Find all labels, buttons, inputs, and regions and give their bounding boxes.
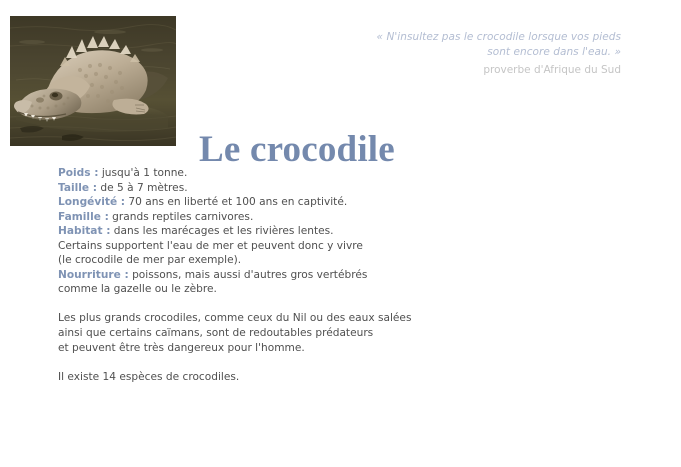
fact-label-poids: Poids : xyxy=(58,167,99,179)
document-page: « N'insultez pas le crocodile lorsque vo… xyxy=(0,0,681,467)
fact-value-nourriture: poissons, mais aussi d'autres gros verté… xyxy=(129,269,368,281)
paragraph2-line-3: et peuvent être très dangereux pour l'ho… xyxy=(58,341,478,356)
habitat-extra-line-2: (le crocodile de mer par exemple). xyxy=(58,253,478,268)
paragraph-spacer-2 xyxy=(58,355,478,370)
fact-label-nourriture: Nourriture : xyxy=(58,269,129,281)
page-title: Le crocodile xyxy=(199,129,395,171)
quote-attribution: proverbe d'Afrique du Sud xyxy=(321,62,621,79)
fact-value-habitat: dans les marécages et les rivières lente… xyxy=(110,225,333,237)
fact-label-habitat: Habitat : xyxy=(58,225,110,237)
nourriture-line-2: comme la gazelle ou le zèbre. xyxy=(58,282,478,297)
crocodile-photo-illustration xyxy=(10,16,176,146)
fact-row-habitat: Habitat : dans les marécages et les rivi… xyxy=(58,224,478,239)
fact-value-poids: jusqu'à 1 tonne. xyxy=(99,167,188,179)
paragraph2-line-1: Les plus grands crocodiles, comme ceux d… xyxy=(58,311,478,326)
fact-row-longevite: Longévité : 70 ans en liberté et 100 ans… xyxy=(58,195,478,210)
proverb-quote-block: « N'insultez pas le crocodile lorsque vo… xyxy=(321,30,621,79)
fact-row-nourriture: Nourriture : poissons, mais aussi d'autr… xyxy=(58,268,478,283)
crocodile-photo xyxy=(10,16,176,146)
habitat-extra-line-1: Certains supportent l'eau de mer et peuv… xyxy=(58,239,478,254)
paragraph3-line-1: Il existe 14 espèces de crocodiles. xyxy=(58,370,478,385)
fact-value-longevite: 70 ans en liberté et 100 ans en captivit… xyxy=(125,196,347,208)
fact-row-taille: Taille : de 5 à 7 mètres. xyxy=(58,181,478,196)
fact-row-poids: Poids : jusqu'à 1 tonne. xyxy=(58,166,478,181)
fact-label-famille: Famille : xyxy=(58,211,109,223)
article-body: Poids : jusqu'à 1 tonne. Taille : de 5 à… xyxy=(58,166,478,384)
fact-value-famille: grands reptiles carnivores. xyxy=(109,211,254,223)
paragraph-spacer-1 xyxy=(58,297,478,312)
paragraph2-line-2: ainsi que certains caïmans, sont de redo… xyxy=(58,326,478,341)
fact-value-taille: de 5 à 7 mètres. xyxy=(97,182,188,194)
quote-line-1: « N'insultez pas le crocodile lorsque vo… xyxy=(321,30,621,45)
fact-label-longevite: Longévité : xyxy=(58,196,125,208)
fact-row-famille: Famille : grands reptiles carnivores. xyxy=(58,210,478,225)
quote-line-2: sont encore dans l'eau. » xyxy=(321,45,621,60)
fact-label-taille: Taille : xyxy=(58,182,97,194)
